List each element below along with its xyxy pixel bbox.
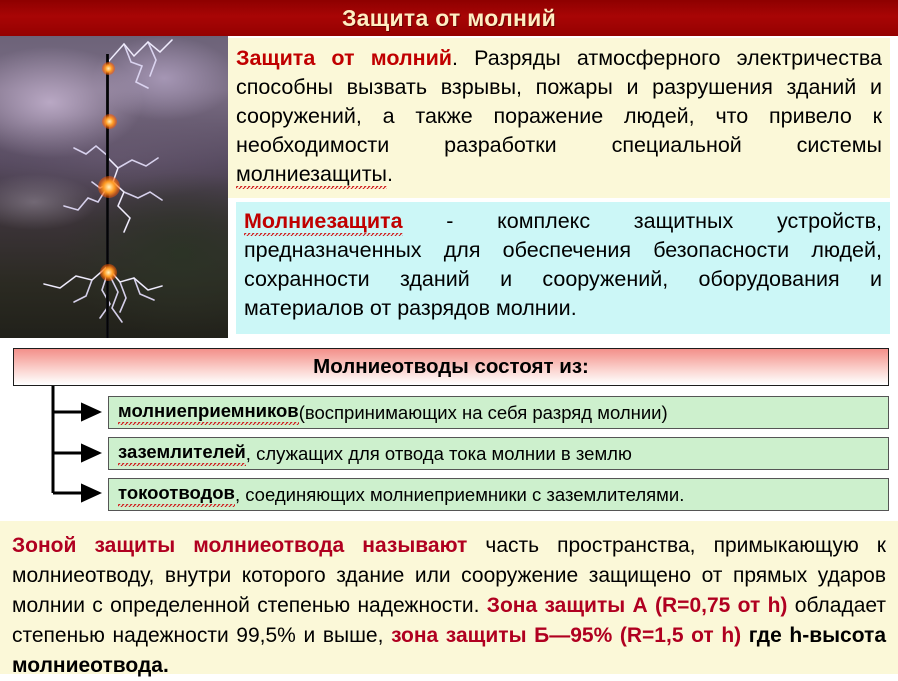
definition-text-block: Молниезащита - комплекс защитных устройс… — [236, 202, 890, 334]
zone-b-label: зона защиты Б—95% (R=1,5 от h) — [391, 624, 741, 647]
mast-light-lower — [100, 264, 117, 281]
zone-a-label: Зона защиты А (R=0,75 от h) — [487, 594, 788, 617]
page-title: Защита от молний — [342, 5, 556, 32]
component-description: (воспринимающих на себя разряд молнии) — [299, 402, 668, 424]
intro-text-block: Защита от молний. Разряды атмосферного э… — [228, 38, 890, 198]
component-description: , соединяющих молниеприемники с заземлит… — [235, 484, 684, 506]
definition-keyword: Молниезащита — [244, 209, 403, 236]
component-bold-label: токоотводов — [118, 482, 235, 507]
intro-keyword: Защита от молний — [236, 46, 452, 70]
lightning-photo — [0, 36, 228, 338]
zone-lead-bold: Зоной защиты молниеотвода называют — [12, 534, 467, 557]
component-description: , служащих для отвода тока молнии в земл… — [246, 443, 632, 465]
protection-zone-text-block: Зоной защиты молниеотвода называют часть… — [0, 521, 898, 674]
component-bold-label: заземлителей — [118, 441, 246, 466]
mast-light-upper — [102, 114, 117, 129]
intro-spellcheck-word: молниезащиты — [236, 162, 387, 189]
page-title-bar: Защита от молний — [0, 0, 898, 36]
mast-light-middle — [98, 176, 120, 198]
component-bold-label: молниеприемников — [118, 400, 299, 425]
intro-body-end: . — [387, 162, 393, 186]
components-header-label: Молниеотводы состоят из: — [313, 355, 589, 379]
component-item-grounding: заземлителей, служащих для отвода тока м… — [108, 437, 889, 470]
component-item-lightning-rods: молниеприемников (воспринимающих на себя… — [108, 396, 889, 429]
components-header-bar: Молниеотводы состоят из: — [13, 348, 889, 386]
component-item-down-conductors: токоотводов, соединяющих молниеприемники… — [108, 478, 889, 511]
mast-light-top — [102, 62, 115, 75]
